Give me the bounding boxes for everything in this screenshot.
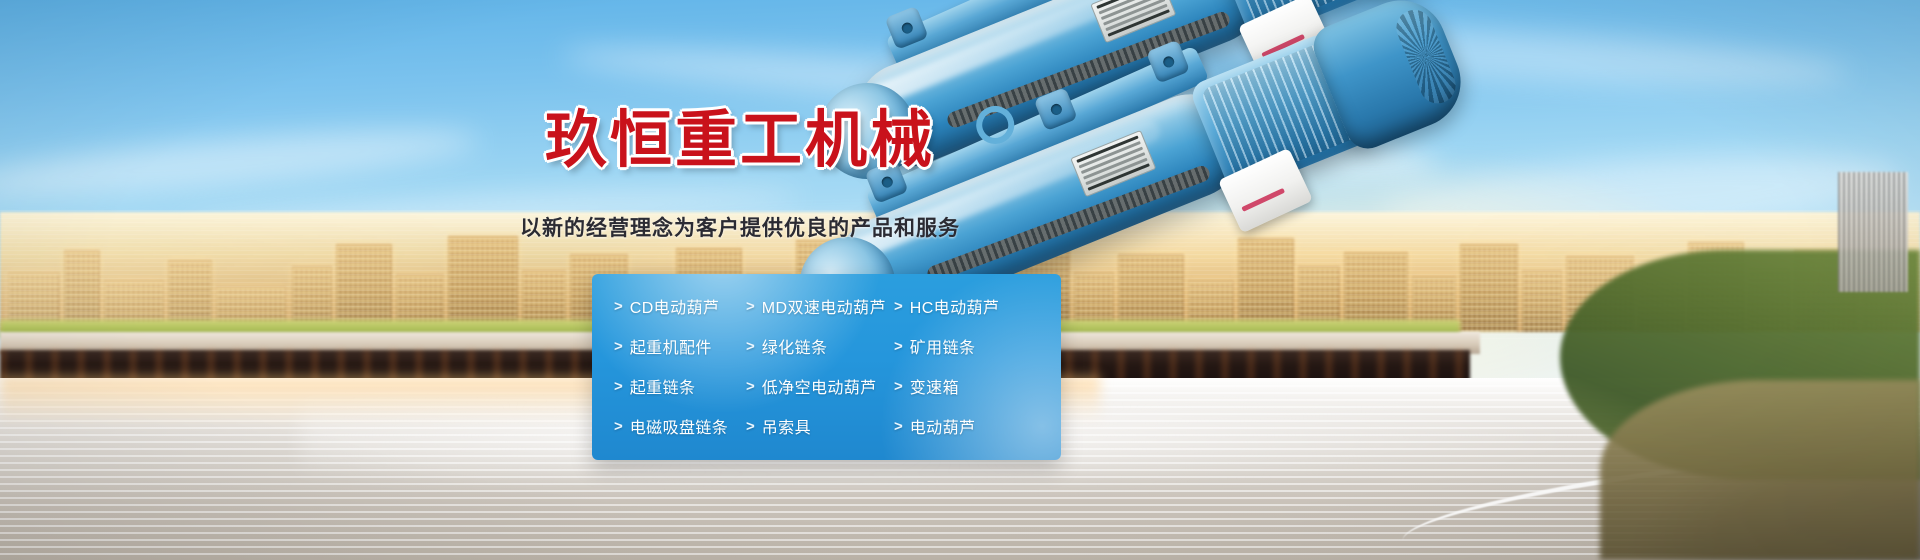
product-link[interactable]: >HC电动葫芦 — [894, 294, 1039, 318]
chevron-right-icon: > — [614, 379, 623, 394]
chevron-right-icon: > — [746, 299, 755, 314]
product-list-panel: >CD电动葫芦 >MD双速电动葫芦 >HC电动葫芦 >起重机配件 >绿化链条 >… — [592, 274, 1061, 460]
hero-banner: 玖恒重工机械 以新的经营理念为客户提供优良的产品和服务 >CD电动葫芦 >MD双… — [0, 0, 1920, 560]
product-label: 吊索具 — [762, 414, 811, 438]
chevron-right-icon: > — [746, 419, 755, 434]
chevron-right-icon: > — [746, 339, 755, 354]
product-label: 矿用链条 — [910, 334, 976, 358]
product-label: 电磁吸盘链条 — [630, 414, 728, 438]
product-link[interactable]: >吊索具 — [746, 414, 894, 438]
product-label: 起重机配件 — [630, 334, 712, 358]
chevron-right-icon: > — [894, 299, 903, 314]
product-link[interactable]: >低净空电动葫芦 — [746, 374, 894, 398]
product-link[interactable]: >电磁吸盘链条 — [614, 414, 746, 438]
product-label: 起重链条 — [630, 374, 696, 398]
product-label: CD电动葫芦 — [630, 294, 720, 318]
chevron-right-icon: > — [894, 339, 903, 354]
product-label: 绿化链条 — [762, 334, 828, 358]
product-link[interactable]: >起重链条 — [614, 374, 746, 398]
product-label: 低净空电动葫芦 — [762, 374, 877, 398]
product-label: 变速箱 — [910, 374, 959, 398]
chevron-right-icon: > — [614, 339, 623, 354]
chevron-right-icon: > — [614, 419, 623, 434]
chevron-right-icon: > — [894, 379, 903, 394]
chevron-right-icon: > — [894, 419, 903, 434]
product-link[interactable]: >起重机配件 — [614, 334, 746, 358]
cloud-wisp — [0, 117, 481, 208]
page-subtitle: 以新的经营理念为客户提供优良的产品和服务 — [480, 212, 1000, 242]
product-link[interactable]: >矿用链条 — [894, 334, 1039, 358]
product-grid: >CD电动葫芦 >MD双速电动葫芦 >HC电动葫芦 >起重机配件 >绿化链条 >… — [614, 294, 1039, 438]
chevron-right-icon: > — [746, 379, 755, 394]
product-label: MD双速电动葫芦 — [762, 294, 886, 318]
page-title: 玖恒重工机械 — [480, 108, 1000, 173]
product-label: 电动葫芦 — [910, 414, 976, 438]
product-link[interactable]: >绿化链条 — [746, 334, 894, 358]
product-link[interactable]: >变速箱 — [894, 374, 1039, 398]
product-link[interactable]: >CD电动葫芦 — [614, 294, 746, 318]
product-link[interactable]: >MD双速电动葫芦 — [746, 294, 894, 318]
product-link[interactable]: >电动葫芦 — [894, 414, 1039, 438]
chevron-right-icon: > — [614, 299, 623, 314]
product-label: HC电动葫芦 — [910, 294, 1000, 318]
